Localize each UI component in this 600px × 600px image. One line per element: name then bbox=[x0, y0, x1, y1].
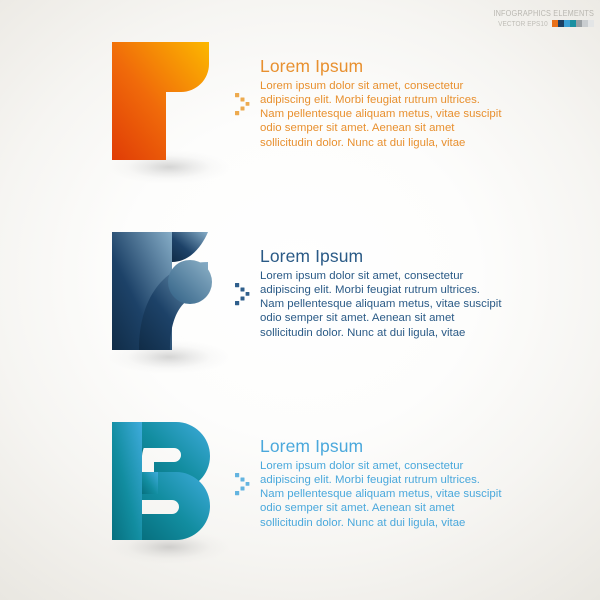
brand-title: INFOGRAPHICS ELEMENTS bbox=[493, 9, 594, 18]
item-body-3: Lorem ipsum dolor sit amet, consectetur … bbox=[260, 459, 505, 529]
brand-subtitle: VECTOR EPS10 bbox=[498, 20, 548, 28]
item-heading-1: Lorem Ipsum bbox=[260, 56, 505, 76]
infographic-row-3: Lorem Ipsum Lorem ipsum dolor sit amet, … bbox=[0, 422, 600, 572]
body-line: odio semper sit amet. Aenean sit amet bbox=[260, 501, 505, 515]
item-heading-2: Lorem Ipsum bbox=[260, 246, 505, 266]
body-line: adipiscing elit. Morbi feugiat rutrum ul… bbox=[260, 283, 505, 297]
numeral-block-1[interactable] bbox=[112, 42, 212, 167]
body-line: Nam pellentesque aliquam metus, vitae su… bbox=[260, 107, 505, 121]
body-line: adipiscing elit. Morbi feugiat rutrum ul… bbox=[260, 473, 505, 487]
chevron-dots-icon bbox=[234, 468, 256, 502]
infographic-canvas: INFOGRAPHICS ELEMENTS VECTOR EPS10 bbox=[0, 0, 600, 600]
chevron-dots-icon bbox=[234, 88, 256, 122]
swatch-6 bbox=[588, 20, 594, 27]
body-line: odio semper sit amet. Aenean sit amet bbox=[260, 121, 505, 135]
numeral-three-icon bbox=[112, 422, 212, 547]
arrow-bullet-1 bbox=[234, 88, 256, 122]
brand-subtitle-row: VECTOR EPS10 bbox=[477, 20, 594, 28]
text-block-2: Lorem Ipsum Lorem ipsum dolor sit amet, … bbox=[260, 246, 505, 340]
body-line: sollicitudin dolor. Nunc at dui ligula, … bbox=[260, 326, 505, 340]
numeral-block-3[interactable] bbox=[112, 422, 212, 547]
text-block-3: Lorem Ipsum Lorem ipsum dolor sit amet, … bbox=[260, 436, 505, 530]
item-body-2: Lorem ipsum dolor sit amet, consectetur … bbox=[260, 269, 505, 339]
body-line: Nam pellentesque aliquam metus, vitae su… bbox=[260, 487, 505, 501]
numeral-two-icon bbox=[112, 232, 212, 357]
body-line: Lorem ipsum dolor sit amet, consectetur bbox=[260, 459, 505, 473]
chevron-dots-icon bbox=[234, 278, 256, 312]
body-line: Lorem ipsum dolor sit amet, consectetur bbox=[260, 79, 505, 93]
body-line: adipiscing elit. Morbi feugiat rutrum ul… bbox=[260, 93, 505, 107]
item-body-1: Lorem ipsum dolor sit amet, consectetur … bbox=[260, 79, 505, 149]
body-line: sollicitudin dolor. Nunc at dui ligula, … bbox=[260, 136, 505, 150]
infographic-row-2: Lorem Ipsum Lorem ipsum dolor sit amet, … bbox=[0, 232, 600, 382]
body-line: Lorem ipsum dolor sit amet, consectetur bbox=[260, 269, 505, 283]
brand-header: INFOGRAPHICS ELEMENTS VECTOR EPS10 bbox=[477, 9, 594, 27]
numeral-block-2[interactable] bbox=[112, 232, 212, 357]
item-heading-3: Lorem Ipsum bbox=[260, 436, 505, 456]
body-line: odio semper sit amet. Aenean sit amet bbox=[260, 311, 505, 325]
body-line: Nam pellentesque aliquam metus, vitae su… bbox=[260, 297, 505, 311]
color-swatch-strip bbox=[552, 20, 594, 27]
arrow-bullet-3 bbox=[234, 468, 256, 502]
text-block-1: Lorem Ipsum Lorem ipsum dolor sit amet, … bbox=[260, 56, 505, 150]
infographic-row-1: Lorem Ipsum Lorem ipsum dolor sit amet, … bbox=[0, 42, 600, 192]
numeral-one-icon bbox=[112, 42, 212, 167]
body-line: sollicitudin dolor. Nunc at dui ligula, … bbox=[260, 516, 505, 530]
arrow-bullet-2 bbox=[234, 278, 256, 312]
